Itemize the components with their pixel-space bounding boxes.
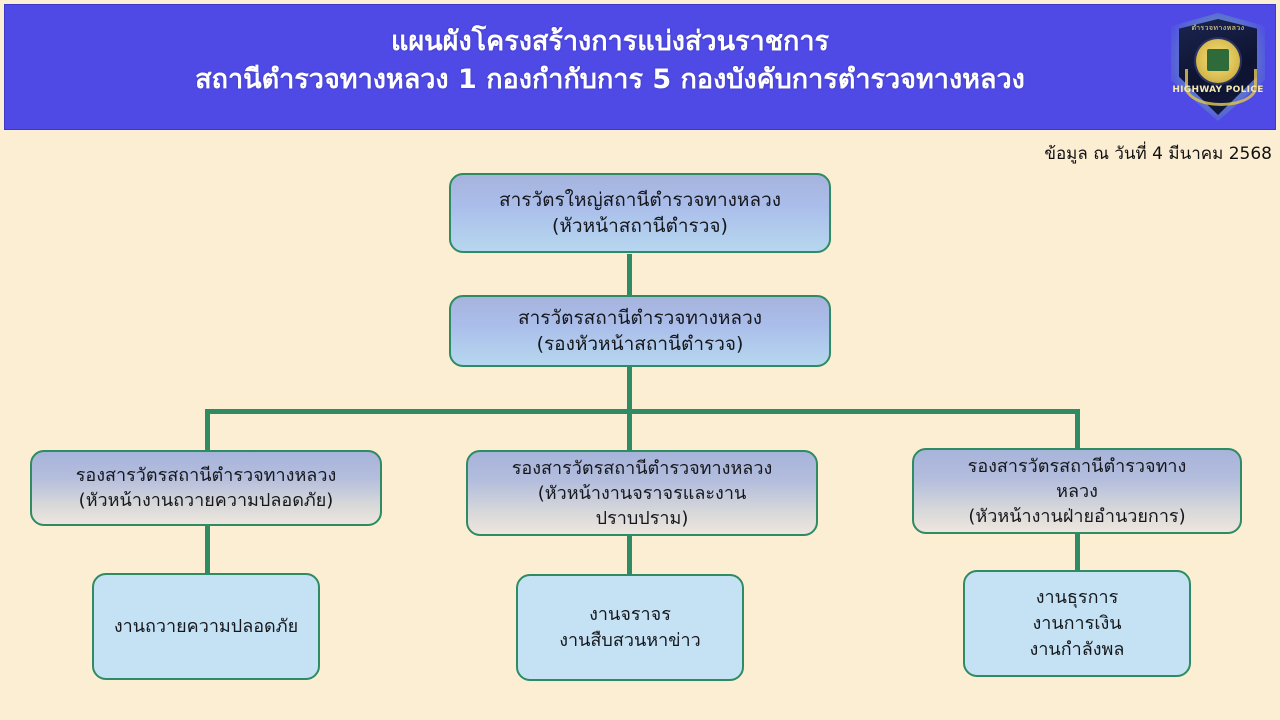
org-node-level4-0-line-1: งานถวายความปลอดภัย [102, 614, 310, 640]
org-node-level2-line-2: (รองหัวหน้าสถานีตำรวจ) [459, 331, 821, 357]
org-node-level3-0-line-2: (หัวหน้างานถวายความปลอดภัย) [40, 488, 372, 513]
connector-horizontal-bus [205, 409, 1080, 414]
org-node-level3-administration[interactable]: รองสารวัตรสถานีตำรวจทาง หลวง (หัวหน้างาน… [912, 448, 1242, 534]
org-node-level3-traffic-suppression[interactable]: รองสารวัตรสถานีตำรวจทางหลวง (หัวหน้างานจ… [466, 450, 818, 536]
data-as-of-date: ข้อมูล ณ วันที่ 4 มีนาคม 2568 [1044, 140, 1272, 167]
org-node-level3-2-line-1: รองสารวัตรสถานีตำรวจทาง [922, 454, 1232, 479]
org-node-level3-safety-operations[interactable]: รองสารวัตรสถานีตำรวจทางหลวง (หัวหน้างานถ… [30, 450, 382, 526]
org-node-level3-2-line-2: หลวง [922, 479, 1232, 504]
page-title: แผนผังโครงสร้างการแบ่งส่วนราชการ สถานีตำ… [65, 23, 1155, 99]
connector-level1-to-level2 [627, 254, 632, 296]
org-node-level4-2-line-2: งานการเงิน [973, 611, 1181, 637]
connector-bus-to-level3-center [627, 409, 632, 451]
org-node-level4-1-line-1: งานจราจร [526, 602, 734, 628]
org-node-level4-safety-tasks[interactable]: งานถวายความปลอดภัย [92, 573, 320, 680]
header-banner: แผนผังโครงสร้างการแบ่งส่วนราชการ สถานีตำ… [4, 4, 1276, 130]
highway-police-badge-logo: ตำรวจทางหลวง HIGHWAY POLICE [1169, 11, 1267, 123]
connector-bus-to-level3-right [1075, 409, 1080, 451]
badge-bottom-text: HIGHWAY POLICE [1169, 85, 1267, 95]
connector-level2-stem [627, 366, 632, 414]
page-title-line-2: สถานีตำรวจทางหลวง 1 กองกำกับการ 5 กองบัง… [65, 61, 1155, 99]
org-node-level2[interactable]: สารวัตรสถานีตำรวจทางหลวง (รองหัวหน้าสถาน… [449, 295, 831, 367]
org-node-level4-1-line-2: งานสืบสวนหาข่าว [526, 628, 734, 654]
org-node-level3-2-line-3: (หัวหน้างานฝ่ายอำนวยการ) [922, 504, 1232, 529]
page-title-line-1: แผนผังโครงสร้างการแบ่งส่วนราชการ [65, 23, 1155, 61]
org-node-level3-0-line-1: รองสารวัตรสถานีตำรวจทางหลวง [40, 463, 372, 488]
org-node-level4-traffic-tasks[interactable]: งานจราจร งานสืบสวนหาข่าว [516, 574, 744, 681]
org-node-level3-1-line-1: รองสารวัตรสถานีตำรวจทางหลวง [476, 456, 808, 481]
connector-level3-to-level4-right [1075, 534, 1080, 574]
org-node-level2-line-1: สารวัตรสถานีตำรวจทางหลวง [459, 305, 821, 331]
connector-level3-to-level4-left [205, 525, 210, 573]
org-node-level4-admin-tasks[interactable]: งานธุรการ งานการเงิน งานกำลังพล [963, 570, 1191, 677]
org-node-level1-line-1: สารวัตรใหญ่สถานีตำรวจทางหลวง [459, 187, 821, 213]
org-node-level3-1-line-3: ปราบปราม) [476, 506, 808, 531]
connector-bus-to-level3-left [205, 409, 210, 451]
org-node-level3-1-line-2: (หัวหน้างานจราจรและงาน [476, 481, 808, 506]
connector-level3-to-level4-center [627, 536, 632, 574]
org-node-level1[interactable]: สารวัตรใหญ่สถานีตำรวจทางหลวง (หัวหน้าสถา… [449, 173, 831, 253]
badge-top-text: ตำรวจทางหลวง [1169, 23, 1267, 34]
org-node-level4-2-line-3: งานกำลังพล [973, 637, 1181, 663]
org-node-level4-2-line-1: งานธุรการ [973, 585, 1181, 611]
org-node-level1-line-2: (หัวหน้าสถานีตำรวจ) [459, 213, 821, 239]
badge-emblem-icon [1196, 39, 1240, 83]
badge-emblem-inner-icon [1207, 49, 1229, 71]
